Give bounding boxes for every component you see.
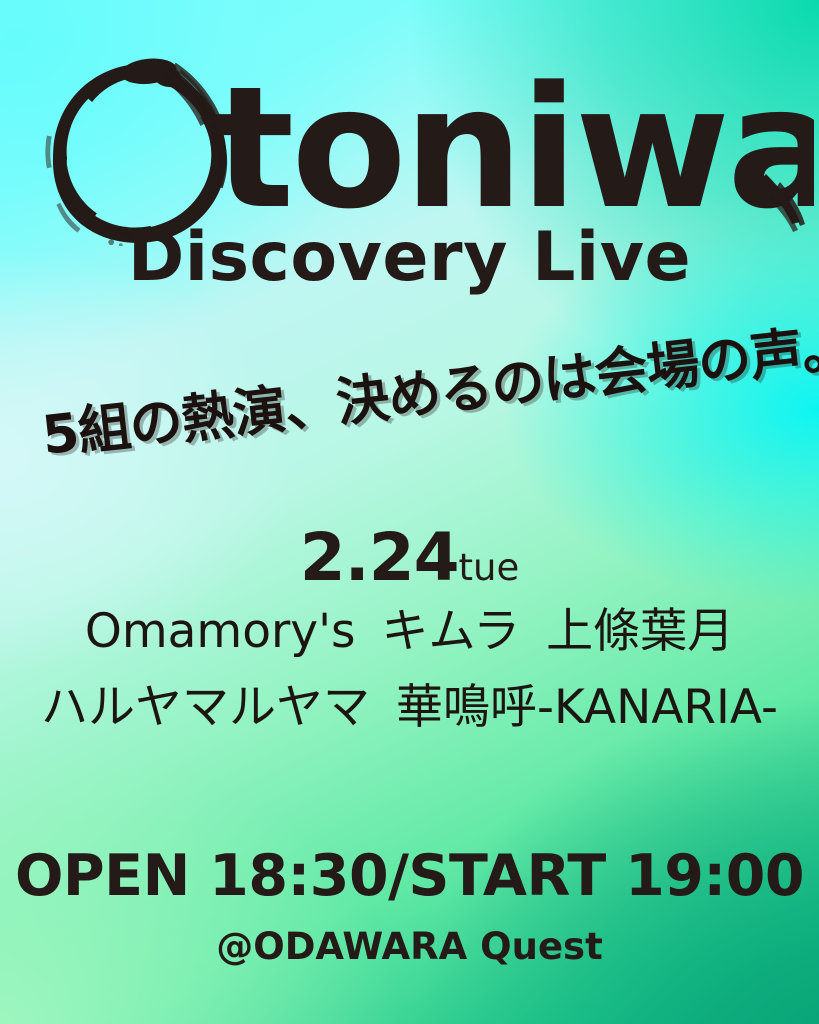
artist-name: 華鳴呼-KANARIA- <box>396 680 778 735</box>
artist-name: Omamory's <box>85 604 356 659</box>
event-tagline: 5組の熱演、決めるのは会場の声。 <box>38 311 802 470</box>
artist-name: 上條葉月 <box>546 604 734 659</box>
tagline-area: 5組の熱演、決めるのは会場の声。 <box>0 340 819 500</box>
logo-subtitle: Discovery Live <box>0 224 819 292</box>
event-date-weekday: tue <box>459 546 520 589</box>
event-date-day: 2.24 <box>300 519 459 596</box>
artist-name: ハルヤマルヤマ <box>41 680 370 735</box>
schedule-times: OPEN 18:30/START 19:00 <box>0 848 819 905</box>
lineup-row-1: Omamory'sキムラ上條葉月 <box>0 608 819 655</box>
event-flyer: toniwa Discovery Live 5組の熱演、決めるのは会場の声。 2… <box>0 0 819 1024</box>
event-date: 2.24tue <box>0 525 819 591</box>
artist-name: キムラ <box>382 604 521 659</box>
venue-name: @ODAWARA Quest <box>0 928 819 965</box>
lineup-row-2: ハルヤマルヤマ華鳴呼-KANARIA- <box>0 684 819 731</box>
